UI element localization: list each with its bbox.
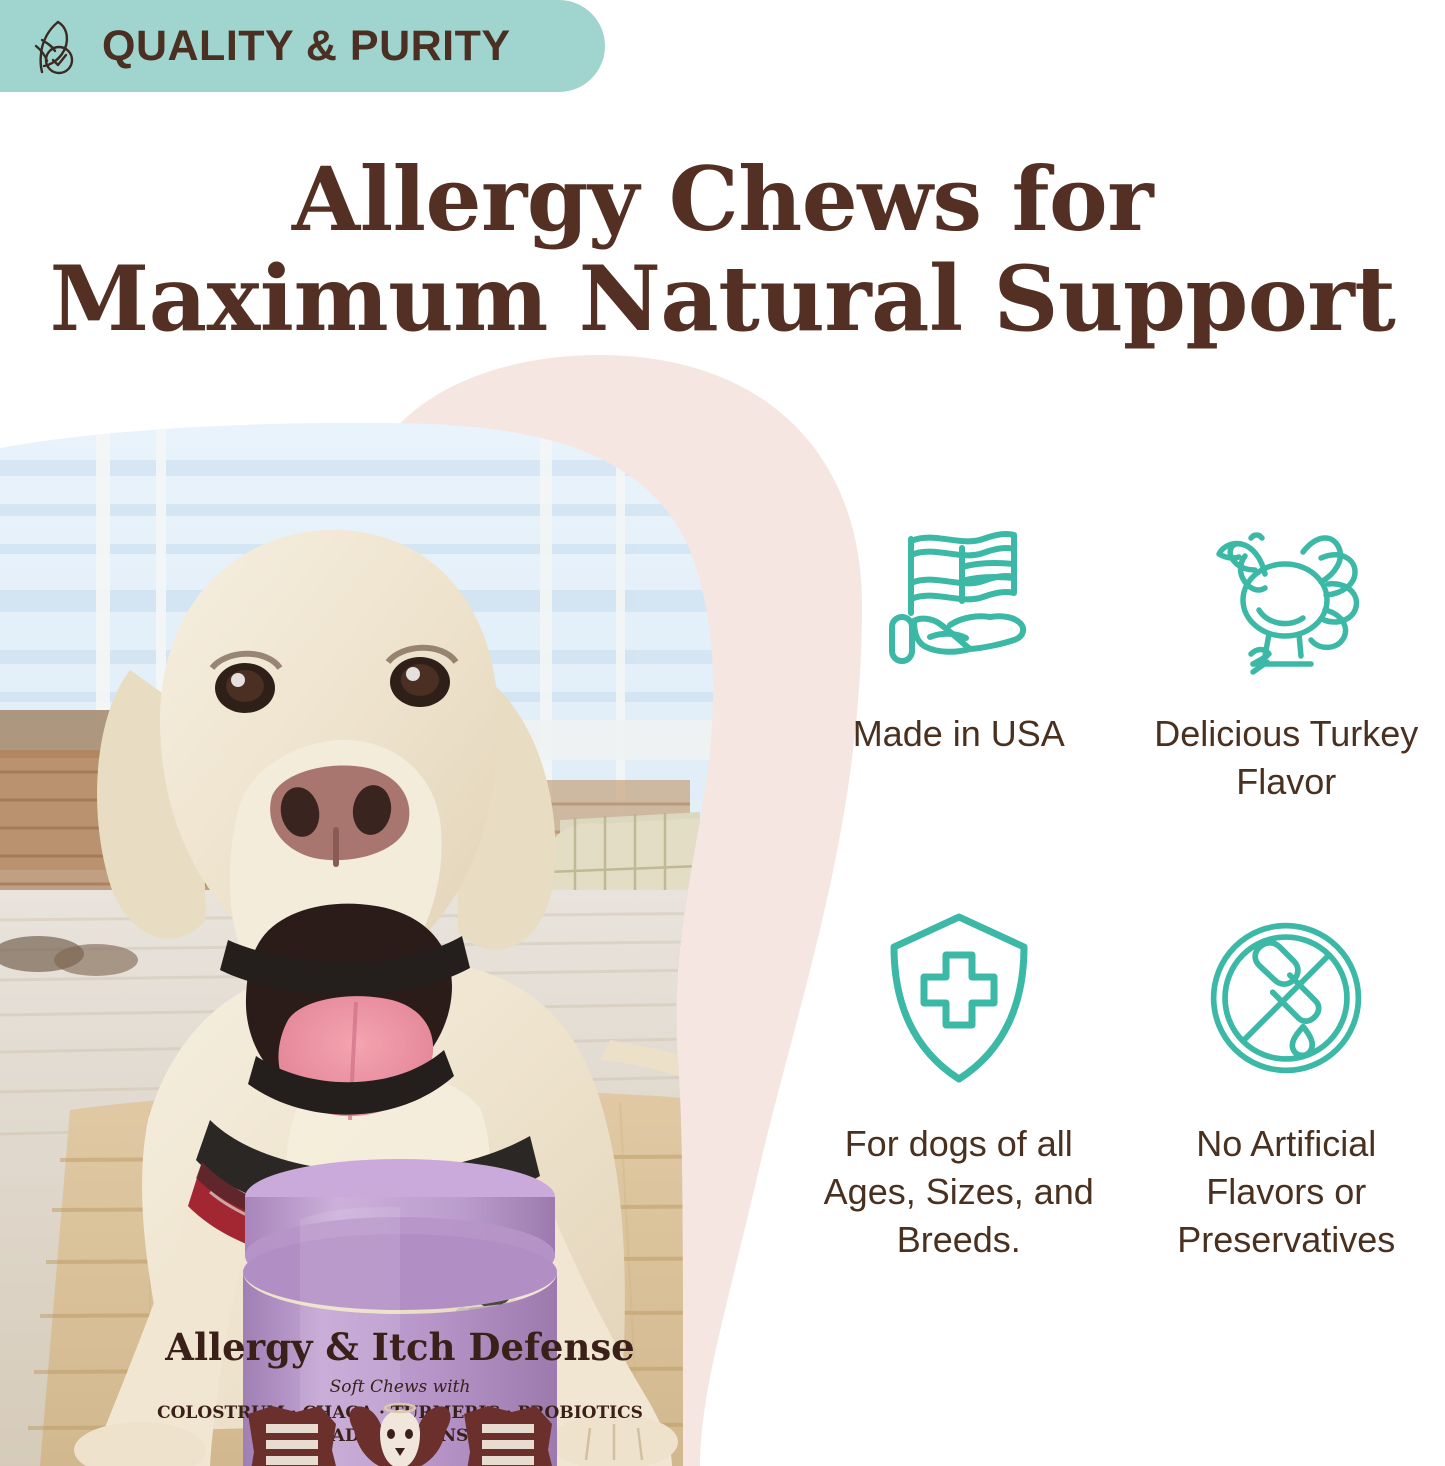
feature-all-dogs: For dogs of all Ages, Sizes, and Breeds. xyxy=(800,890,1118,1285)
jar-seal-right xyxy=(464,1406,554,1466)
headline-line-2: Maximum Natural Support xyxy=(0,249,1445,350)
quality-purity-badge: QUALITY & PURITY xyxy=(0,0,605,92)
no-dropper-icon xyxy=(1206,898,1366,1098)
feature-label-turkey-flavor: Delicious Turkey Flavor xyxy=(1141,710,1431,806)
product-marketing-image: Allergy & Itch Defense Soft Chews with C… xyxy=(0,0,1445,1466)
flag-in-hand-icon xyxy=(879,503,1039,688)
feature-label-all-dogs: For dogs of all Ages, Sizes, and Breeds. xyxy=(814,1120,1104,1264)
feature-no-artificial: No Artificial Flavors or Preservatives xyxy=(1128,890,1445,1285)
feature-grid: Made in USA xyxy=(800,495,1445,1285)
feature-label-made-in-usa: Made in USA xyxy=(853,710,1065,758)
badge-label: QUALITY & PURITY xyxy=(102,22,511,71)
jar-title: Allergy & Itch Defense xyxy=(164,1325,634,1369)
headline-line-1: Allergy Chews for xyxy=(0,150,1445,249)
dog-photo: Allergy & Itch Defense Soft Chews with C… xyxy=(0,420,850,1466)
turkey-icon xyxy=(1206,503,1366,688)
feature-label-no-artificial: No Artificial Flavors or Preservatives xyxy=(1141,1120,1431,1264)
feature-made-in-usa: Made in USA xyxy=(800,495,1118,890)
jar-seal-left xyxy=(248,1406,338,1466)
jar-subtitle: Soft Chews with xyxy=(330,1377,471,1397)
page-title: Allergy Chews for Maximum Natural Suppor… xyxy=(0,150,1445,349)
shield-cross-icon xyxy=(879,898,1039,1098)
feature-turkey-flavor: Delicious Turkey Flavor xyxy=(1128,495,1445,890)
leaf-check-icon xyxy=(28,16,84,76)
